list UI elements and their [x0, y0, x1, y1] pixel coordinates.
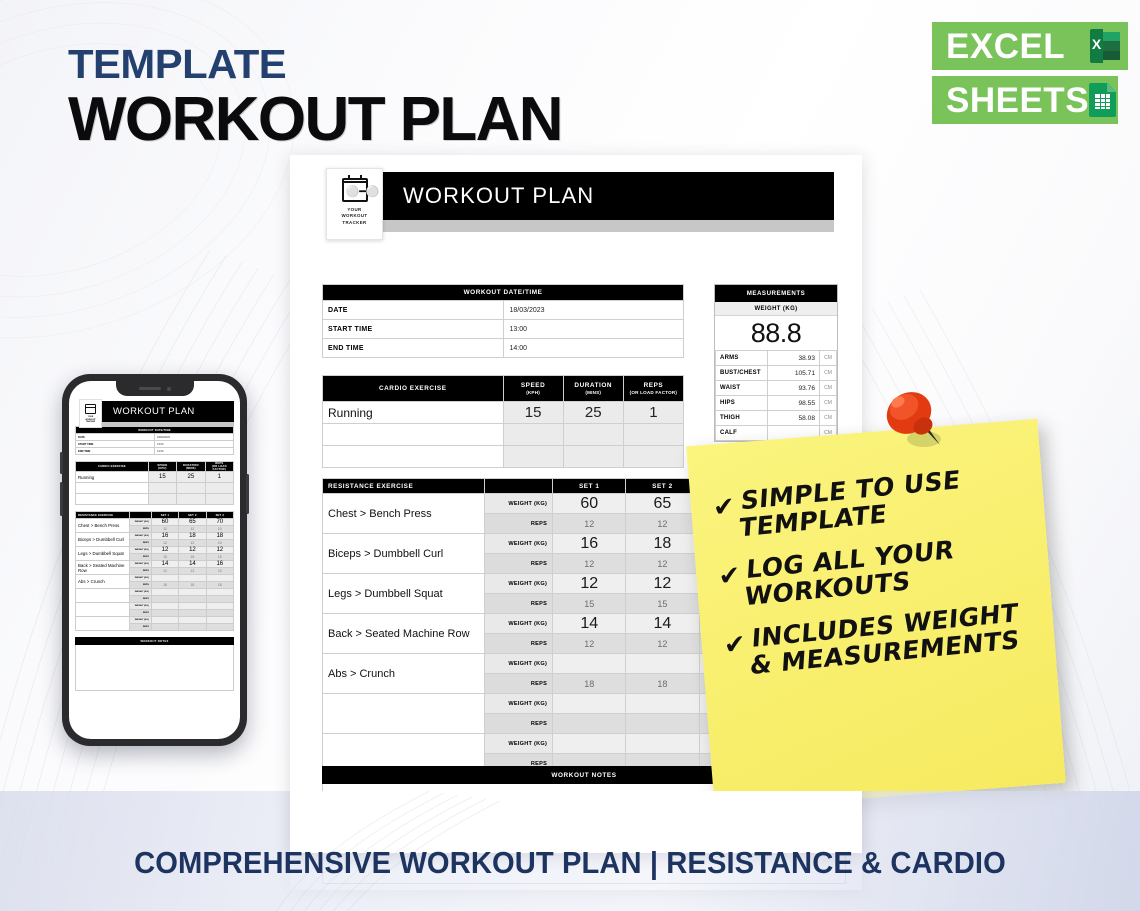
mini-datetime-value[interactable]: 13:00 — [155, 441, 234, 448]
brand-badge: EXCEL X SHEETS — [932, 22, 1128, 124]
resistance-exercise-name[interactable]: Biceps > Dumbbell Curl — [323, 534, 485, 574]
cardio-duration[interactable] — [563, 424, 623, 446]
mini-weight-set-3[interactable]: 70 — [206, 519, 233, 526]
mini-weight-set-1[interactable]: 14 — [151, 561, 178, 568]
sticky-note-line: LOG ALL YOUR WORKOUTS — [744, 530, 1029, 611]
mini-resistance-col-set-2: SET 2 — [179, 512, 206, 519]
mini-notes-header: WORKOUT NOTES — [75, 637, 234, 645]
measurements-weight-header: WEIGHT (KG) — [715, 302, 837, 316]
measurement-unit: CM — [820, 366, 837, 381]
poster-title-block: TEMPLATE WORKOUT PLAN — [68, 44, 562, 152]
excel-icon: X — [1090, 29, 1120, 63]
mini-resistance-col-set-3: SET 3 — [206, 512, 233, 519]
mini-document-body: WORKOUT DATE/TIMEDATE18/03/2023START TIM… — [75, 426, 234, 691]
resistance-reps-set-1[interactable] — [553, 714, 626, 734]
mini-reps-set-2[interactable] — [179, 624, 206, 631]
mini-cardio-col-1: SPEED(KPH) — [148, 462, 176, 472]
resistance-reps-label: REPS — [485, 554, 553, 574]
cardio-speed[interactable]: 15 — [503, 402, 563, 424]
cardio-exercise-name[interactable]: Running — [323, 402, 504, 424]
table-row — [76, 494, 234, 505]
mini-logo-caption: YOURWORKOUTTRACKER — [86, 416, 96, 424]
mini-resistance-name[interactable]: Abs > Crunch — [76, 575, 130, 589]
mini-weight-set-2[interactable]: 14 — [179, 561, 206, 568]
table-row: Abs > CrunchWEIGHT (KG) — [76, 575, 234, 582]
cardio-reps[interactable] — [623, 446, 683, 468]
mini-weight-set-1[interactable] — [151, 589, 178, 596]
measurement-value[interactable]: 98.55 — [768, 396, 820, 411]
mini-reps-set-3[interactable]: 10 — [206, 568, 233, 575]
excel-label: EXCEL — [946, 29, 1065, 64]
table-row: Chest > Bench PressWEIGHT (KG)606570 — [76, 519, 234, 526]
document-title-bar: WORKOUT PLAN — [361, 172, 834, 220]
footer-document-overlap — [290, 791, 862, 853]
resistance-reps-set-2[interactable]: 18 — [626, 674, 699, 694]
sheets-badge-row: SHEETS — [932, 76, 1118, 124]
check-icon: ✔ — [723, 630, 747, 658]
resistance-weight-set-1[interactable]: 14 — [553, 614, 626, 634]
mini-reps-set-1[interactable] — [151, 610, 178, 617]
resistance-reps-set-2[interactable] — [626, 714, 699, 734]
mini-cardio-duration[interactable] — [177, 483, 205, 494]
table-row: START TIME 13:00 — [323, 320, 684, 339]
measurement-value[interactable]: 38.93 — [768, 351, 820, 366]
mini-cardio-speed[interactable] — [148, 483, 176, 494]
measurement-value[interactable]: 105.71 — [768, 366, 820, 381]
mini-reps-set-2[interactable]: 15 — [179, 554, 206, 561]
cardio-col-reps-label: REPS — [644, 382, 664, 389]
mini-reps-set-2[interactable]: 18 — [179, 582, 206, 589]
resistance-weight-set-2[interactable] — [626, 734, 699, 754]
resistance-reps-set-2[interactable]: 15 — [626, 594, 699, 614]
document-content: WORKOUT PLAN ⚪━⚪ YOURWORKOUTTRACKER WORK… — [306, 172, 846, 232]
phone-document-preview: WORKOUT PLAN YOURWORKOUTTRACKER WORKOUT … — [75, 401, 234, 691]
mini-datetime-label: DATE — [76, 434, 155, 441]
cardio-col-speed-label: SPEED — [521, 382, 545, 389]
table-row: END TIME 14:00 — [323, 339, 684, 358]
datetime-value[interactable]: 18/03/2023 — [503, 301, 684, 320]
page-title: WORKOUT PLAN — [68, 87, 562, 152]
resistance-exercise-name[interactable] — [323, 694, 485, 734]
table-row: DATE18/03/2023 — [76, 434, 234, 441]
cardio-col-exercise: CARDIO EXERCISE — [323, 376, 504, 402]
mini-weight-label: WEIGHT (KG) — [129, 547, 151, 554]
cardio-col-duration-unit: (MINS) — [566, 390, 621, 395]
phone-screen: WORKOUT PLAN YOURWORKOUTTRACKER WORKOUT … — [69, 381, 240, 739]
mini-cardio-reps[interactable] — [205, 494, 233, 505]
cardio-col-duration: DURATION (MINS) — [563, 376, 623, 402]
resistance-weight-set-1[interactable]: 16 — [553, 534, 626, 554]
mini-reps-set-3[interactable]: 10 — [206, 540, 233, 547]
mini-resistance-table: RESISTANCE EXERCISESET 1SET 2SET 3Chest … — [75, 511, 234, 631]
table-row — [76, 483, 234, 494]
mini-reps-set-1[interactable]: 12 — [151, 568, 178, 575]
resistance-col-exercise: RESISTANCE EXERCISE — [323, 479, 485, 494]
table-row: ARMS38.93CM — [716, 351, 837, 366]
mini-reps-set-3[interactable] — [206, 596, 233, 603]
cardio-exercise-name[interactable] — [323, 446, 504, 468]
phone-camera-icon — [167, 387, 171, 391]
cardio-col-speed-unit: (KPH) — [506, 390, 561, 395]
mini-document-header: WORKOUT PLAN YOURWORKOUTTRACKER — [75, 401, 234, 422]
mini-weight-set-1[interactable] — [151, 575, 178, 582]
logo-caption: YOURWORKOUTTRACKER — [342, 207, 368, 226]
google-sheets-icon — [1089, 83, 1116, 117]
mini-cardio-reps[interactable] — [205, 483, 233, 494]
table-row: Running 15 25 1 — [323, 402, 684, 424]
mini-reps-set-2[interactable] — [179, 596, 206, 603]
mini-resistance-name[interactable] — [76, 617, 130, 631]
mini-reps-label: REPS — [129, 624, 151, 631]
phone-notch — [116, 381, 194, 396]
mini-resistance-name[interactable]: Legs > Dumbbell Squat — [76, 547, 130, 561]
mini-weight-label: WEIGHT (KG) — [129, 533, 151, 540]
sticky-note-content: ✔ SIMPLE TO USE TEMPLATE ✔ LOG ALL YOUR … — [686, 419, 1058, 709]
measurement-label: CALF — [716, 426, 768, 441]
resistance-reps-set-2[interactable]: 12 — [626, 554, 699, 574]
check-icon: ✔ — [712, 493, 736, 521]
resistance-reps-label: REPS — [485, 674, 553, 694]
resistance-reps-set-1[interactable]: 12 — [553, 634, 626, 654]
resistance-weight-set-1[interactable] — [553, 694, 626, 714]
check-icon: ✔ — [717, 562, 741, 590]
mini-datetime-value[interactable]: 18/03/2023 — [155, 434, 234, 441]
measurements-weight-value[interactable]: 88.8 — [715, 316, 837, 350]
table-row: WEIGHT (KG) — [76, 617, 234, 624]
cardio-exercise-table: CARDIO EXERCISE SPEED (KPH) DURATION (MI… — [322, 375, 684, 468]
table-row: END TIME14:00 — [76, 448, 234, 455]
mini-reps-label: REPS — [129, 582, 151, 589]
table-row: THIGH58.08CM — [716, 411, 837, 426]
resistance-weight-set-1[interactable]: 12 — [553, 574, 626, 594]
mini-weight-label: WEIGHT (KG) — [129, 561, 151, 568]
resistance-weight-label: WEIGHT (KG) — [485, 574, 553, 594]
template-kicker: TEMPLATE — [68, 44, 572, 85]
mini-weight-label: WEIGHT (KG) — [129, 589, 151, 596]
mini-reps-set-3[interactable]: 18 — [206, 582, 233, 589]
measurement-label: WAIST — [716, 381, 768, 396]
workout-tracker-logo: ⚪━⚪ YOURWORKOUTTRACKER — [326, 168, 383, 240]
measurement-unit: CM — [820, 381, 837, 396]
measurement-unit: CM — [820, 351, 837, 366]
resistance-reps-label: REPS — [485, 594, 553, 614]
mini-resistance-name[interactable]: Chest > Bench Press — [76, 519, 130, 533]
datetime-label: DATE — [323, 301, 504, 320]
cardio-col-duration-label: DURATION — [574, 382, 612, 389]
mini-resistance-name[interactable]: Back > Seated Machine Row — [76, 561, 130, 575]
mini-weight-set-2[interactable]: 18 — [179, 533, 206, 540]
mini-weight-set-2[interactable] — [179, 603, 206, 610]
sheets-label: SHEETS — [946, 83, 1089, 118]
mini-reps-set-2[interactable]: 12 — [179, 540, 206, 547]
measurements-panel: MEASUREMENTS WEIGHT (KG) 88.8 ARMS38.93C… — [714, 284, 838, 442]
phone-speaker-icon — [139, 387, 161, 390]
resistance-col-set-1: SET 1 — [553, 479, 626, 494]
table-row — [323, 424, 684, 446]
table-row — [323, 446, 684, 468]
datetime-value[interactable]: 13:00 — [503, 320, 684, 339]
footer-banner-text: COMPREHENSIVE WORKOUT PLAN | RESISTANCE … — [34, 845, 1106, 881]
mini-weight-set-3[interactable]: 16 — [206, 561, 233, 568]
mini-weight-set-2[interactable]: 12 — [179, 547, 206, 554]
table-row: WEIGHT (KG) — [76, 603, 234, 610]
table-row: START TIME13:00 — [76, 441, 234, 448]
cardio-col-reps: REPS (OR LOAD FACTOR) — [623, 376, 683, 402]
mini-workout-tracker-logo: YOURWORKOUTTRACKER — [79, 399, 102, 428]
resistance-weight-set-2[interactable]: 18 — [626, 534, 699, 554]
resistance-exercise-name[interactable]: Back > Seated Machine Row — [323, 614, 485, 654]
datetime-value[interactable]: 14:00 — [503, 339, 684, 358]
mini-resistance-name[interactable] — [76, 589, 130, 603]
measurement-unit: CM — [820, 411, 837, 426]
mini-reps-label: REPS — [129, 540, 151, 547]
resistance-weight-set-2[interactable] — [626, 654, 699, 674]
resistance-weight-label: WEIGHT (KG) — [485, 654, 553, 674]
mini-reps-set-3[interactable]: 10 — [206, 526, 233, 533]
mini-cardio-speed[interactable]: 15 — [148, 472, 176, 483]
mini-datetime-label: END TIME — [76, 448, 155, 455]
resistance-weight-set-1[interactable] — [553, 654, 626, 674]
mini-cardio-duration[interactable]: 25 — [177, 472, 205, 483]
measurements-header: MEASUREMENTS — [715, 285, 837, 302]
cardio-speed[interactable] — [503, 424, 563, 446]
mini-weight-label: WEIGHT (KG) — [129, 575, 151, 582]
resistance-reps-set-2[interactable]: 12 — [626, 514, 699, 534]
resistance-exercise-name[interactable]: Abs > Crunch — [323, 654, 485, 694]
measurement-label: BUST/CHEST — [716, 366, 768, 381]
mini-weight-set-2[interactable] — [179, 589, 206, 596]
mini-reps-set-1[interactable] — [151, 596, 178, 603]
mini-reps-set-2[interactable]: 12 — [179, 526, 206, 533]
mini-cardio-speed[interactable] — [148, 494, 176, 505]
mini-cardio-name[interactable] — [76, 494, 149, 505]
mini-datetime-value[interactable]: 14:00 — [155, 448, 234, 455]
mini-reps-set-3[interactable] — [206, 624, 233, 631]
document-title: WORKOUT PLAN — [403, 183, 594, 209]
mini-resistance-col-set-1: SET 1 — [151, 512, 178, 519]
table-row: Running15251 — [76, 472, 234, 483]
cardio-col-exercise-label: CARDIO EXERCISE — [379, 385, 447, 392]
excel-badge-row: EXCEL X — [932, 22, 1128, 70]
cardio-reps[interactable] — [623, 424, 683, 446]
mini-notes-body[interactable] — [75, 645, 234, 691]
table-row: WAIST93.76CM — [716, 381, 837, 396]
resistance-weight-label: WEIGHT (KG) — [485, 694, 553, 714]
mini-cardio-name[interactable]: Running — [76, 472, 149, 483]
mini-cardio-col-exercise: CARDIO EXERCISE — [76, 462, 149, 472]
cardio-col-speed: SPEED (KPH) — [503, 376, 563, 402]
table-row: WEIGHT (KG) — [76, 589, 234, 596]
datetime-header: WORKOUT DATE/TIME — [323, 285, 684, 301]
mini-weight-label: WEIGHT (KG) — [129, 617, 151, 624]
resistance-reps-set-1[interactable]: 12 — [553, 554, 626, 574]
resistance-reps-label: REPS — [485, 514, 553, 534]
mini-cardio-col-2: DURATION(MINS) — [177, 462, 205, 472]
mini-reps-set-1[interactable] — [151, 624, 178, 631]
resistance-weight-set-1[interactable]: 60 — [553, 494, 626, 514]
mini-resistance-col-exercise: RESISTANCE EXERCISE — [76, 512, 130, 519]
mini-document-title: WORKOUT PLAN — [113, 406, 195, 417]
resistance-exercise-name[interactable]: Legs > Dumbbell Squat — [323, 574, 485, 614]
mini-reps-label: REPS — [129, 526, 151, 533]
resistance-col-metric — [485, 479, 553, 494]
mini-cardio-table: CARDIO EXERCISESPEED(KPH)DURATION(MINS)R… — [75, 461, 234, 505]
table-row: BUST/CHEST105.71CM — [716, 366, 837, 381]
mini-weight-set-3[interactable]: 18 — [206, 533, 233, 540]
mini-weight-set-1[interactable]: 60 — [151, 519, 178, 526]
mini-reps-label: REPS — [129, 610, 151, 617]
resistance-weight-label: WEIGHT (KG) — [485, 614, 553, 634]
measurement-label: ARMS — [716, 351, 768, 366]
mini-reps-label: REPS — [129, 554, 151, 561]
measurement-value[interactable]: 58.08 — [768, 411, 820, 426]
cardio-duration[interactable] — [563, 446, 623, 468]
workout-datetime-table: WORKOUT DATE/TIME DATE 18/03/2023 START … — [322, 284, 684, 358]
resistance-reps-set-1[interactable]: 12 — [553, 514, 626, 534]
mini-resistance-name[interactable] — [76, 603, 130, 617]
table-row: DATE 18/03/2023 — [323, 301, 684, 320]
mini-weight-set-3[interactable] — [206, 617, 233, 624]
mini-cardio-reps[interactable]: 1 — [205, 472, 233, 483]
mini-reps-set-1[interactable]: 15 — [151, 554, 178, 561]
table-row: Legs > Dumbbell SquatWEIGHT (KG)121212 — [76, 547, 234, 554]
sticky-note: ✔ SIMPLE TO USE TEMPLATE ✔ LOG ALL YOUR … — [686, 419, 1066, 810]
resistance-weight-set-1[interactable] — [553, 734, 626, 754]
mini-resistance-col-metric — [129, 512, 151, 519]
resistance-reps-set-1[interactable]: 15 — [553, 594, 626, 614]
mini-weight-set-1[interactable]: 16 — [151, 533, 178, 540]
mini-datetime-label: START TIME — [76, 441, 155, 448]
cardio-col-reps-unit: (OR LOAD FACTOR) — [626, 390, 681, 395]
cardio-speed[interactable] — [503, 446, 563, 468]
mini-reps-set-3[interactable]: 15 — [206, 554, 233, 561]
mini-weight-set-1[interactable] — [151, 603, 178, 610]
document-header: WORKOUT PLAN ⚪━⚪ YOURWORKOUTTRACKER — [306, 172, 846, 232]
cardio-exercise-name[interactable] — [323, 424, 504, 446]
measurement-unit: CM — [820, 396, 837, 411]
resistance-weight-set-2[interactable]: 65 — [626, 494, 699, 514]
mini-reps-label: REPS — [129, 596, 151, 603]
sticky-note-line: SIMPLE TO USE TEMPLATE — [738, 461, 1023, 542]
mini-weight-set-1[interactable] — [151, 617, 178, 624]
footer-banner: COMPREHENSIVE WORKOUT PLAN | RESISTANCE … — [0, 791, 1140, 911]
datetime-label: END TIME — [323, 339, 504, 358]
mini-reps-label: REPS — [129, 568, 151, 575]
mini-datetime-table: WORKOUT DATE/TIMEDATE18/03/2023START TIM… — [75, 426, 234, 455]
resistance-weight-label: WEIGHT (KG) — [485, 534, 553, 554]
mini-reps-set-2[interactable] — [179, 610, 206, 617]
resistance-weight-label: WEIGHT (KG) — [485, 734, 553, 754]
poster-canvas: TEMPLATE WORKOUT PLAN EXCEL X SHEETS — [0, 0, 1140, 911]
resistance-reps-set-2[interactable]: 12 — [626, 634, 699, 654]
cardio-duration[interactable]: 25 — [563, 402, 623, 424]
datetime-label: START TIME — [323, 320, 504, 339]
list-item: ✔ INCLUDES WEIGHT & MEASUREMENTS — [723, 604, 1038, 681]
table-row: Back > Seated Machine RowWEIGHT (KG)1414… — [76, 561, 234, 568]
list-item: ✔ SIMPLE TO USE TEMPLATE — [712, 466, 1027, 543]
resistance-reps-set-1[interactable]: 18 — [553, 674, 626, 694]
mini-weight-set-3[interactable] — [206, 589, 233, 596]
phone-mockup: WORKOUT PLAN YOURWORKOUTTRACKER WORKOUT … — [62, 374, 247, 746]
measurement-label: THIGH — [716, 411, 768, 426]
excel-icon-letter: X — [1090, 36, 1103, 52]
sticky-note-line: INCLUDES WEIGHT & MEASUREMENTS — [749, 599, 1034, 680]
resistance-weight-set-2[interactable]: 12 — [626, 574, 699, 594]
mini-weight-set-2[interactable]: 65 — [179, 519, 206, 526]
mini-weight-set-2[interactable] — [179, 617, 206, 624]
resistance-weight-set-2[interactable]: 14 — [626, 614, 699, 634]
mini-reps-set-1[interactable]: 12 — [151, 540, 178, 547]
measurement-value[interactable]: 93.76 — [768, 381, 820, 396]
mini-resistance-name[interactable]: Biceps > Dumbbell Curl — [76, 533, 130, 547]
mini-reps-set-1[interactable]: 12 — [151, 526, 178, 533]
table-row: Biceps > Dumbbell CurlWEIGHT (KG)161818 — [76, 533, 234, 540]
mini-weight-set-1[interactable]: 12 — [151, 547, 178, 554]
mini-weight-set-2[interactable] — [179, 575, 206, 582]
cardio-reps[interactable]: 1 — [623, 402, 683, 424]
resistance-reps-label: REPS — [485, 634, 553, 654]
push-pin-icon — [880, 383, 954, 457]
mini-reps-set-1[interactable]: 18 — [151, 582, 178, 589]
mini-cardio-name[interactable] — [76, 483, 149, 494]
resistance-weight-label: WEIGHT (KG) — [485, 494, 553, 514]
mini-cardio-duration[interactable] — [177, 494, 205, 505]
resistance-exercise-name[interactable]: Chest > Bench Press — [323, 494, 485, 534]
measurement-label: HIPS — [716, 396, 768, 411]
mini-reps-set-3[interactable] — [206, 610, 233, 617]
mini-cardio-col-3: REPS(OR LOAD FACTOR) — [205, 462, 233, 472]
mini-weight-set-3[interactable] — [206, 603, 233, 610]
mini-weight-label: WEIGHT (KG) — [129, 603, 151, 610]
mini-reps-set-2[interactable]: 12 — [179, 568, 206, 575]
mini-weight-set-3[interactable]: 12 — [206, 547, 233, 554]
table-row: HIPS98.55CM — [716, 396, 837, 411]
document-header-underbar — [361, 220, 834, 232]
calendar-dumbbell-icon: ⚪━⚪ — [342, 178, 368, 202]
mini-weight-label: WEIGHT (KG) — [129, 519, 151, 526]
resistance-reps-label: REPS — [485, 714, 553, 734]
resistance-weight-set-2[interactable] — [626, 694, 699, 714]
mini-calendar-icon — [85, 404, 96, 414]
mini-weight-set-3[interactable] — [206, 575, 233, 582]
